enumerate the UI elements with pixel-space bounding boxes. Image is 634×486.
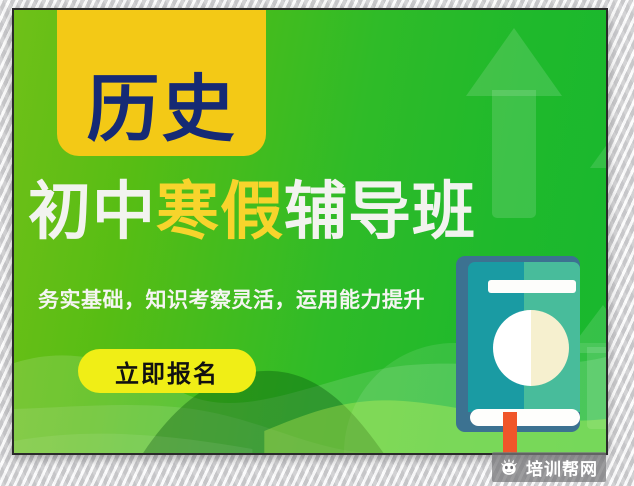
smiley-sun-face-icon [498,456,520,478]
page-backdrop: 历史 初中寒假辅导班 务实基础，知识考察灵活，运用能力提升 立即报名 [0,0,634,486]
watermark: 培训帮网 [492,452,606,482]
subtitle: 务实基础，知识考察灵活，运用能力提升 [38,284,425,314]
headline-segment-grade: 初中 [28,175,156,248]
book-bookmark-ribbon [503,412,517,452]
watermark-text: 培训帮网 [526,455,598,480]
banner-frame: 历史 初中寒假辅导班 务实基础，知识考察灵活，运用能力提升 立即报名 [12,8,608,455]
book-icon [456,256,580,432]
book-title-bar [488,280,576,293]
subject-chip: 历史 [57,10,266,156]
headline-segment-course: 辅导班 [284,175,476,248]
book-page-edge [470,409,580,426]
page-title: 初中寒假辅导班 [28,180,598,243]
book-emblem-circle [493,310,569,386]
enroll-now-button[interactable]: 立即报名 [78,349,256,393]
enroll-now-label: 立即报名 [115,354,219,389]
arrow-head [590,110,606,168]
subject-label: 历史 [87,75,237,144]
promo-banner: 历史 初中寒假辅导班 务实基础，知识考察灵活，运用能力提升 立即报名 [14,10,606,453]
book-cover [468,262,580,412]
headline-segment-season: 寒假 [156,175,284,248]
arrow-head [466,28,562,96]
